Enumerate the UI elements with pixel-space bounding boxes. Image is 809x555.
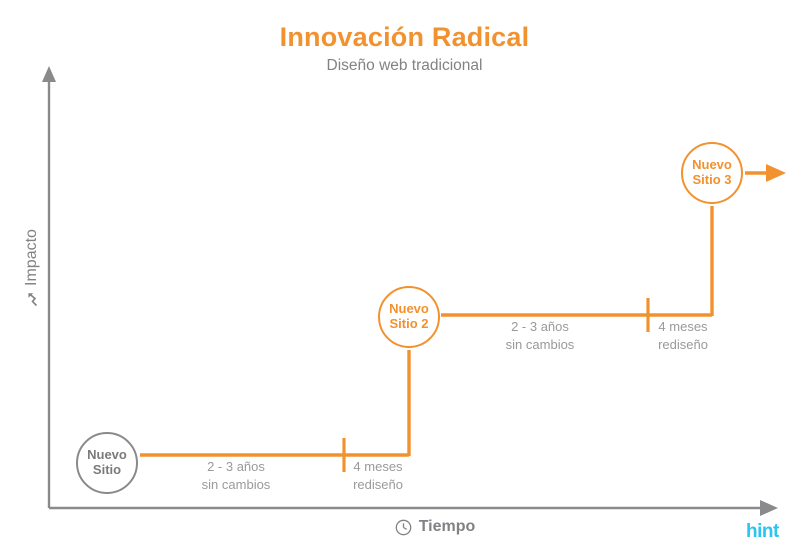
node-nuevo-sitio[interactable]: NuevoSitio	[76, 432, 138, 494]
x-axis-label: Tiempo	[355, 518, 515, 536]
y-axis-label: Impacto	[19, 213, 45, 323]
segment-label-redesign-1: 4 mesesrediseño	[320, 458, 436, 493]
segment-label-redesign-2: 4 mesesrediseño	[625, 318, 741, 353]
trend-up-icon	[25, 292, 40, 307]
node-label: NuevoSitio 2	[389, 302, 429, 332]
y-axis-label-text: Impacto	[23, 229, 41, 286]
diagram-canvas: Innovación Radical Diseño web tradiciona…	[0, 0, 809, 555]
segment-label-plateau-2: 2 - 3 añossin cambios	[470, 318, 610, 353]
clock-icon	[395, 519, 412, 536]
y-axis-arrowhead	[42, 66, 56, 82]
x-axis-arrowhead	[760, 500, 778, 516]
x-axis-label-text: Tiempo	[419, 518, 476, 536]
segment-label-plateau-1: 2 - 3 añossin cambios	[166, 458, 306, 493]
node-nuevo-sitio-3[interactable]: NuevoSitio 3	[681, 142, 743, 204]
node-nuevo-sitio-2[interactable]: NuevoSitio 2	[378, 286, 440, 348]
node-label: NuevoSitio	[87, 448, 127, 478]
forward-arrowhead-icon	[766, 164, 786, 182]
brand-logo[interactable]: hint	[746, 521, 779, 543]
node-label: NuevoSitio 3	[692, 158, 732, 188]
step-line-path	[140, 173, 768, 456]
